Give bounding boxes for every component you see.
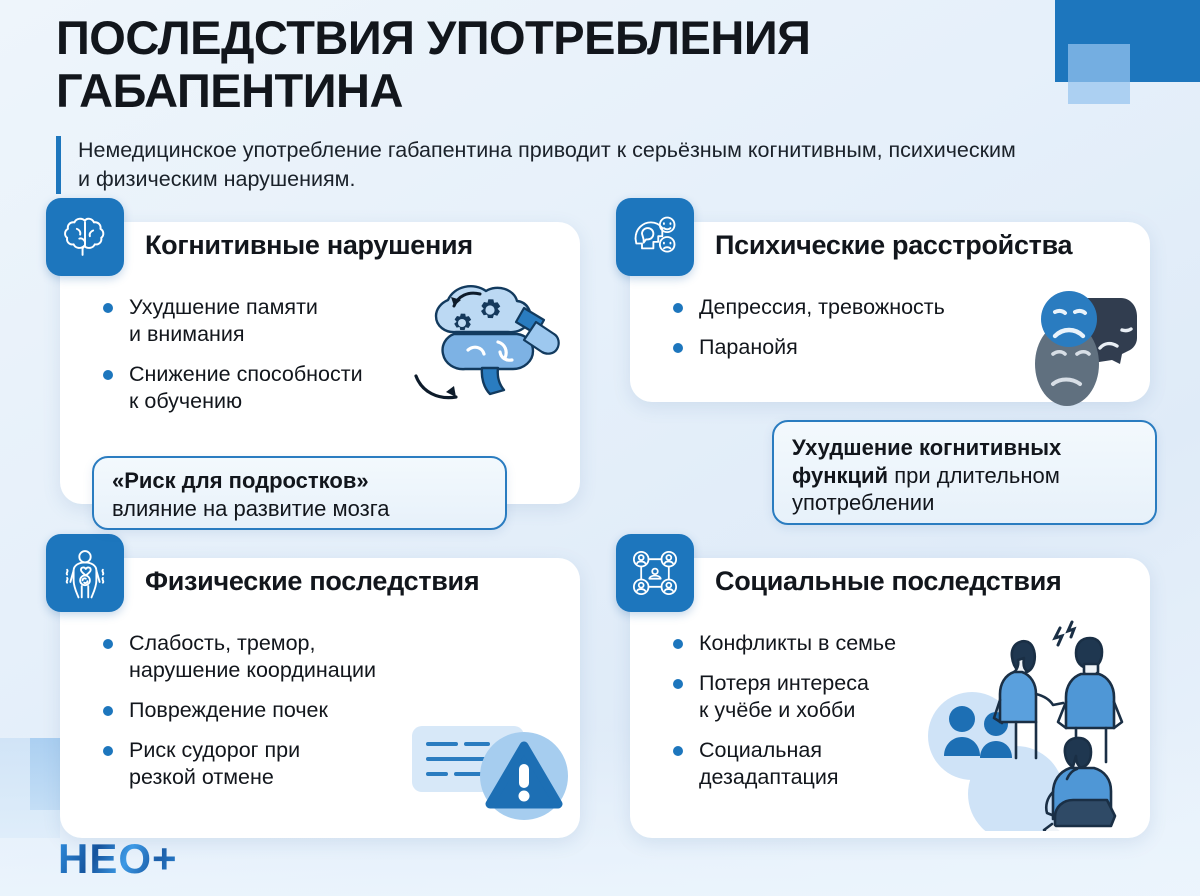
card-title: Социальные последствия [715,566,1061,597]
list-item: Риск судорог при резкой отмене [102,737,376,791]
bullet-list: Конфликты в семье Потеря интереса к учёб… [672,630,896,803]
list-item: Конфликты в семье [672,630,896,657]
callout-normal-line: употреблении [792,489,1139,517]
card-title: Психические расстройства [715,230,1072,261]
family-conflict-illustration [924,616,1154,831]
body-organs-icon [46,534,124,612]
theatre-masks-illustration [1009,284,1154,412]
subtitle-block: Немедицинское употребление габапентина п… [56,136,1056,194]
brain-icon [46,198,124,276]
bullet-list: Ухудшение памяти и внимания Снижение спо… [102,294,363,428]
subtitle-text: Немедицинское употребление габапентина п… [78,136,1018,194]
list-item: Потеря интереса к учёбе и хобби [672,670,896,724]
card-title: Физические последствия [145,566,479,597]
card-title: Когнитивные нарушения [145,230,473,261]
card-mental-disorders: Психические расстройства Депрессия, трев… [630,222,1150,402]
callout-strong-line: «Риск для подростков» [112,467,489,495]
card-physical-consequences: Физические последствия Слабость, тремор,… [60,558,580,838]
callout-mixed-strong: функций [792,463,888,488]
callout-strong-line: Ухудшение когнитивных [792,434,1139,462]
decorative-square-top-right-light [1068,44,1130,104]
callout-normal-line: влияние на развитие мозга [112,495,489,523]
logo-text: НЕО+ [58,836,178,882]
list-item: Повреждение почек [102,697,376,724]
callout-teen-risk: «Риск для подростков» влияние на развити… [92,456,507,530]
card-social-consequences: Социальные последствия [630,558,1150,838]
callout-mixed-normal: при длительном [888,463,1060,488]
header: ПОСЛЕДСТВИЯ УПОТРЕБЛЕНИЯ ГАБАПЕНТИНА Нем… [56,12,1056,194]
warning-document-illustration [412,714,572,824]
people-network-icon [616,534,694,612]
list-item: Депрессия, тревожность [672,294,945,321]
list-item: Ухудшение памяти и внимания [102,294,363,348]
list-item: Снижение способности к обучению [102,361,363,415]
bullet-list: Слабость, тремор, нарушение координации … [102,630,376,803]
list-item: Слабость, тремор, нарушение координации [102,630,376,684]
brain-gears-illustration [396,272,586,422]
bullet-list: Депрессия, тревожность Паранойя [672,294,945,374]
callout-mixed-line: функций при длительном [792,462,1139,490]
list-item: Паранойя [672,334,945,361]
callout-long-term-use: Ухудшение когнитивных функций при длител… [772,420,1157,525]
page-title: ПОСЛЕДСТВИЯ УПОТРЕБЛЕНИЯ ГАБАПЕНТИНА [56,12,1056,117]
brand-logo: НЕО+ [58,836,178,882]
list-item: Социальная дезадаптация [672,737,896,791]
head-emotions-icon [616,198,694,276]
